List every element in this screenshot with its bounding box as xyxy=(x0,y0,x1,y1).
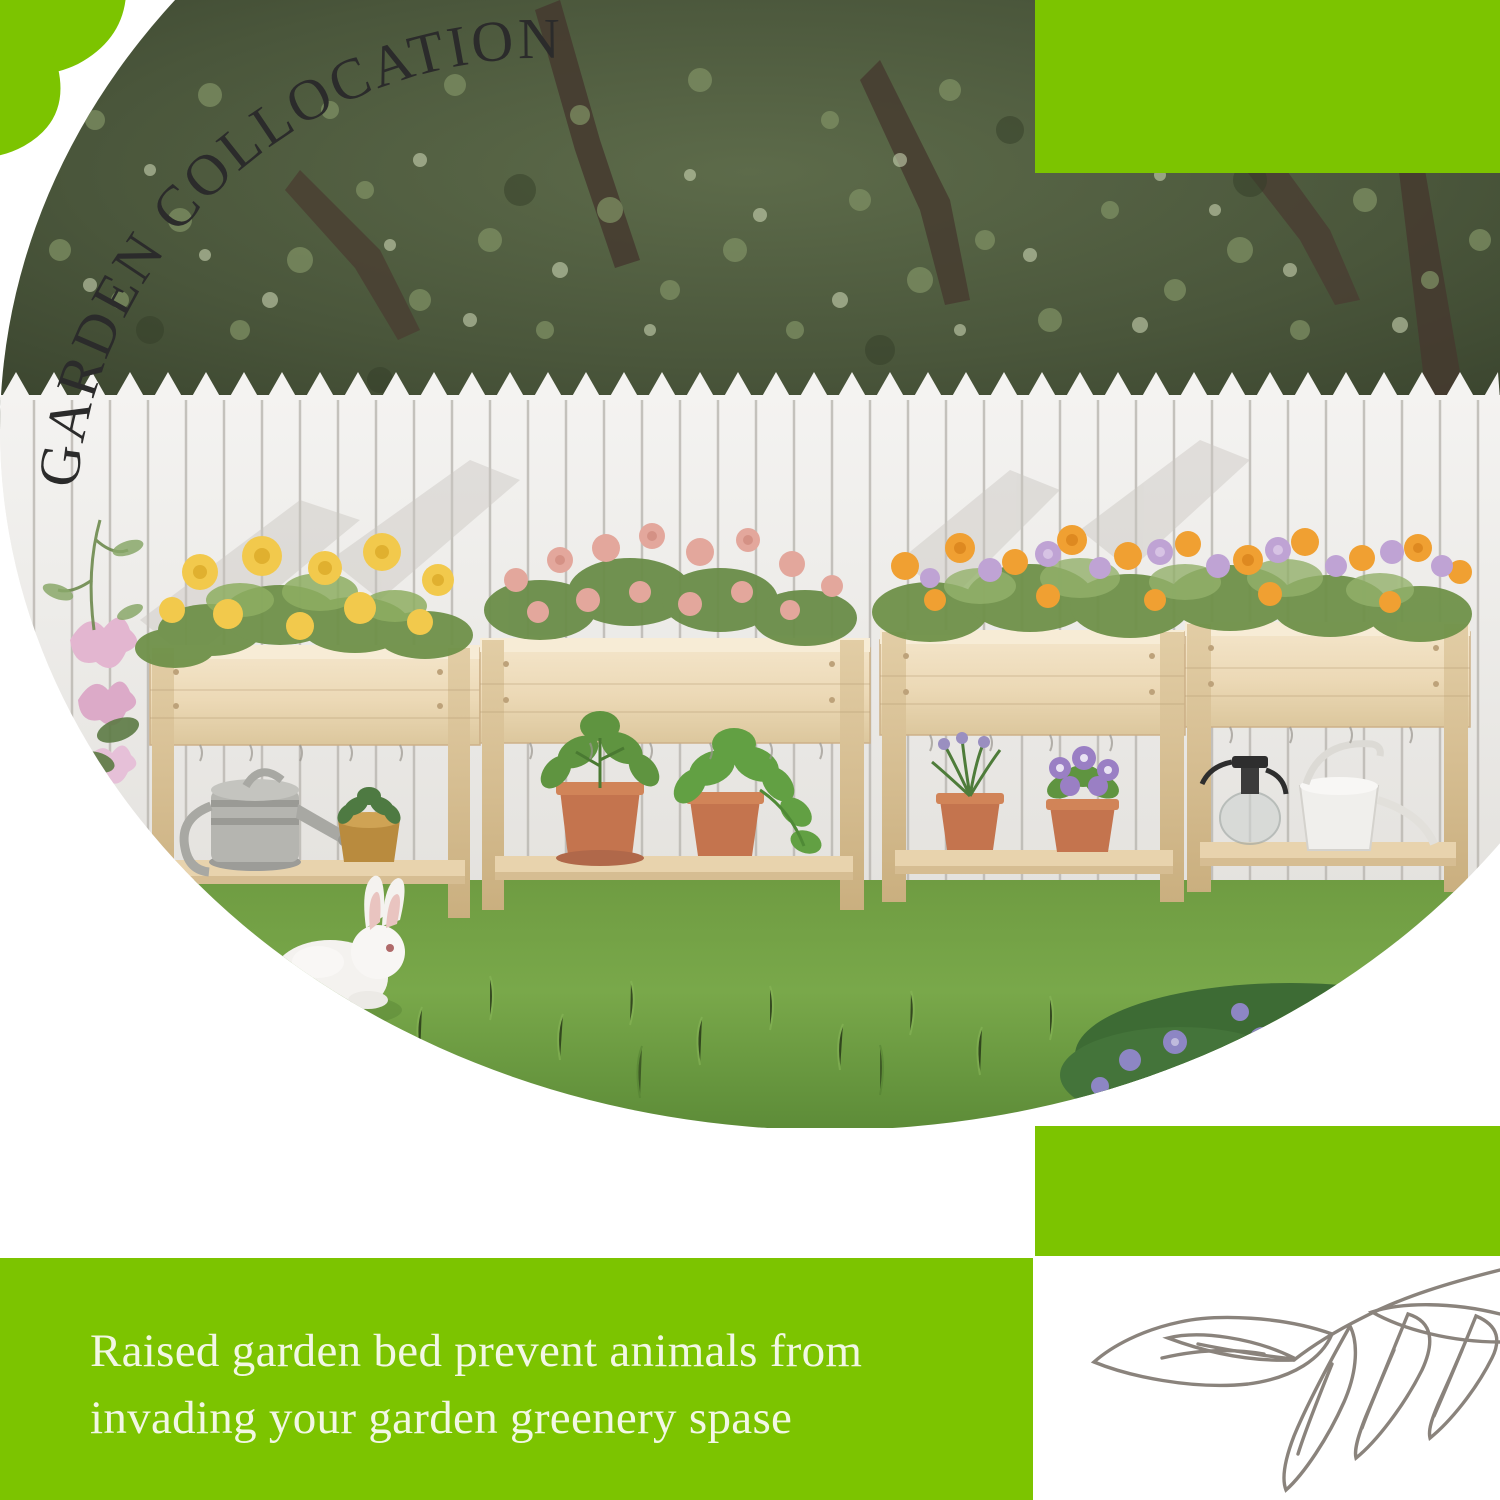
poster-canvas: GARDEN COLLOCATION Raised garden bed pre… xyxy=(0,0,1500,1500)
caption-line-2: invading your garden greenery spase xyxy=(90,1385,990,1452)
caption-block: Raised garden bed prevent animals from i… xyxy=(90,1318,990,1451)
green-accent-block-top-right xyxy=(1035,0,1500,173)
leaf-cluster-icon xyxy=(0,0,204,196)
caption-line-1: Raised garden bed prevent animals from xyxy=(90,1318,990,1385)
leaf-branch-outline-icon xyxy=(1032,1258,1500,1500)
green-accent-block-mid-right xyxy=(1035,1126,1500,1256)
